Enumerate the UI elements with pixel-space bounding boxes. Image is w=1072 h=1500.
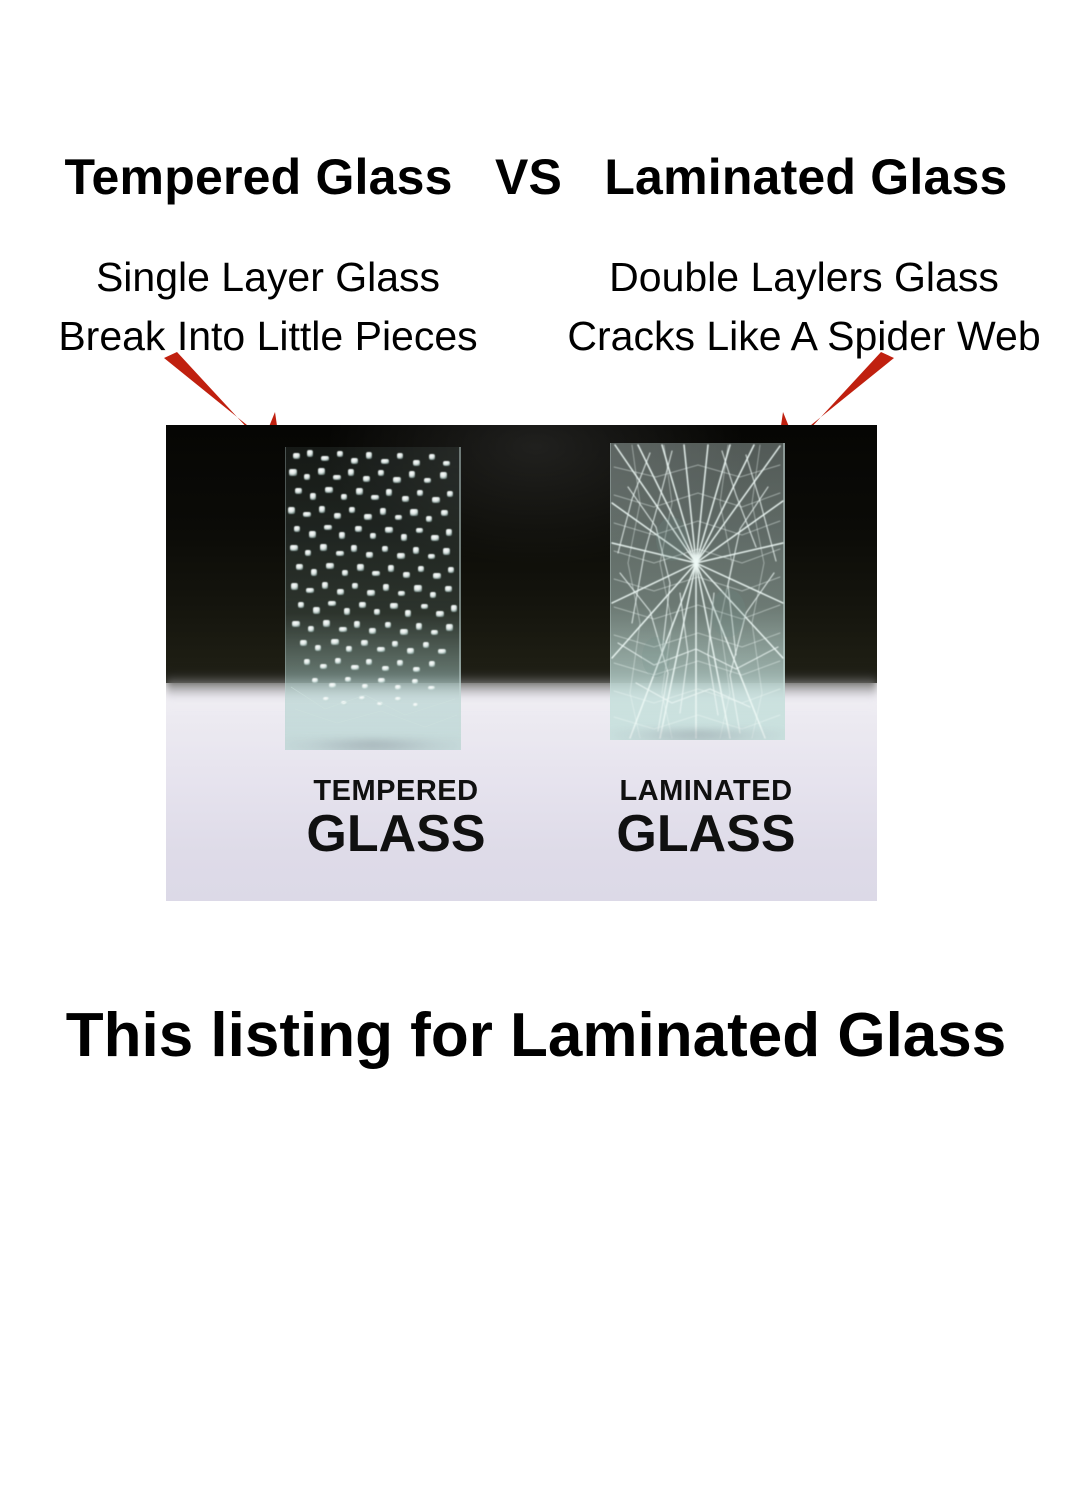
listing-note: This listing for Laminated Glass <box>0 1000 1072 1071</box>
glass-comparison-photo: TEMPERED GLASS LAMINATED GLASS <box>166 425 877 901</box>
laminated-caption-line-1: Double Laylers Glass <box>536 248 1072 307</box>
photo-caption-tempered: TEMPERED GLASS <box>266 777 526 860</box>
page-headline: Tempered Glass VS Laminated Glass <box>0 150 1072 204</box>
tempered-glass-panel <box>285 447 461 750</box>
photo-caption-laminated: LAMINATED GLASS <box>576 777 836 860</box>
tempered-caption-line-2: Break Into Little Pieces <box>0 307 536 366</box>
laminated-caption-line-2: Cracks Like A Spider Web <box>536 307 1072 366</box>
tempered-caption-line-1: Single Layer Glass <box>0 248 536 307</box>
laminated-glass-panel <box>610 443 785 740</box>
laminated-web-pattern <box>610 443 785 740</box>
tempered-fragment-pattern <box>285 447 461 750</box>
caption-column-tempered: Single Layer Glass Break Into Little Pie… <box>0 248 536 367</box>
laminated-panel-shadow <box>610 730 785 740</box>
photo-caption-tempered-big: GLASS <box>266 808 526 860</box>
photo-caption-laminated-small: LAMINATED <box>576 777 836 806</box>
caption-columns: Single Layer Glass Break Into Little Pie… <box>0 248 1072 367</box>
caption-column-laminated: Double Laylers Glass Cracks Like A Spide… <box>536 248 1072 367</box>
tempered-panel-shadow <box>285 740 461 750</box>
photo-caption-tempered-small: TEMPERED <box>266 777 526 806</box>
photo-caption-laminated-big: GLASS <box>576 808 836 860</box>
